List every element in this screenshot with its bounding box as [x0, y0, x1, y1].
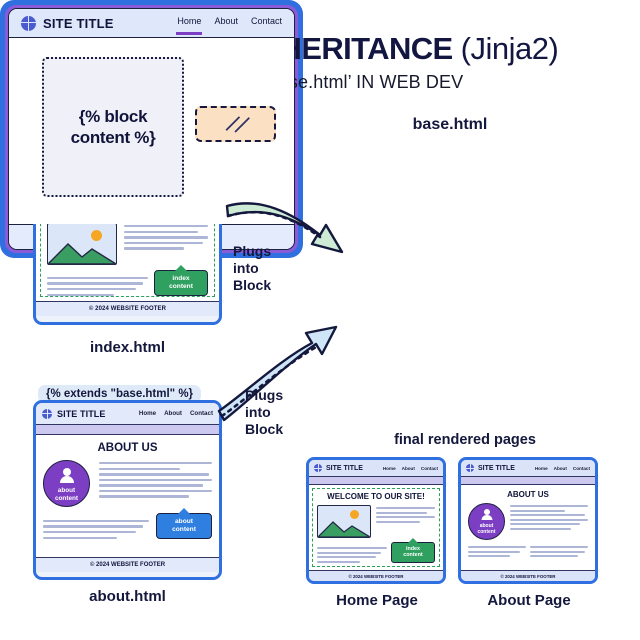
home-thumb-body: WELCOME TO OUR SITE!: [309, 485, 443, 570]
mountain-shape: [318, 519, 370, 537]
home-thumb-site-title: SITE TITLE: [326, 465, 363, 472]
final-pages-label: final rendered pages: [300, 432, 630, 448]
aboutpg-thumb-lines-2: [468, 544, 526, 557]
index-footer: © 2024 WEBSITE FOOTER: [36, 301, 219, 316]
index-file-label: index.html: [33, 339, 222, 356]
arrow-label-index: Plugs into Block: [233, 243, 271, 294]
aboutpg-thumb-nav-about[interactable]: About: [554, 466, 567, 471]
globe-icon: [21, 16, 36, 31]
index-text-lines-2: [47, 275, 148, 296]
home-thumb-nav-home[interactable]: Home: [383, 466, 396, 471]
aboutpg-thumb-site-title: SITE TITLE: [478, 465, 515, 472]
home-thumb-heading: WELCOME TO OUR SITE!: [317, 492, 435, 501]
index-lower-row: index content: [47, 270, 208, 296]
arrow-label-about: Plugs into Block: [245, 387, 283, 438]
page-title-accent: (Jinja2): [461, 31, 559, 66]
globe-icon: [466, 464, 474, 472]
about-file-label: about.html: [33, 588, 222, 605]
about-hero-row: about content: [43, 460, 212, 507]
sun-shape: [350, 510, 359, 519]
about-site-title: SITE TITLE: [57, 409, 106, 419]
aboutpg-thumb-lines: [510, 503, 588, 540]
block-content-placeholder: {% block content %}: [42, 57, 184, 197]
placeholder-slash-icon: [195, 106, 276, 142]
home-thumb-band: [309, 477, 443, 485]
about-footer: © 2024 WEBSITE FOOTER: [36, 557, 219, 572]
avatar-shoulders: [60, 476, 74, 483]
base-nav-contact[interactable]: Contact: [251, 16, 282, 31]
aboutpg-thumb-lower-row: [468, 544, 588, 557]
globe-icon: [314, 464, 322, 472]
base-nav-about[interactable]: About: [214, 16, 238, 31]
about-avatar-line1: about: [58, 487, 75, 494]
aboutpg-avatar-line2: content: [477, 530, 495, 536]
image-placeholder-icon: [317, 505, 371, 538]
about-body: ABOUT US about content: [36, 435, 219, 557]
index-hero-row: [47, 223, 208, 265]
home-thumb-lower-row: index content: [317, 542, 435, 563]
about-nav-home[interactable]: Home: [139, 410, 156, 417]
about-text-lines: [99, 460, 212, 507]
home-thumb-header: SITE TITLE Home About Contact: [309, 460, 443, 477]
base-inner-ring: SITE TITLE Home About Contact {% block c…: [5, 5, 298, 253]
aboutpg-thumb-body: ABOUT US about content: [461, 485, 595, 570]
index-badge-line1: index: [172, 275, 189, 282]
about-heading: ABOUT US: [43, 442, 212, 454]
avatar-head: [63, 468, 71, 476]
home-thumb-content-block: WELCOME TO OUR SITE!: [312, 488, 440, 567]
base-html-panel: SITE TITLE Home About Contact {% block c…: [0, 0, 303, 258]
block-line-1: {% block: [79, 107, 147, 126]
home-thumb-footer: © 2024 WEBSITE FOOTER: [309, 570, 443, 582]
aboutpg-thumb-nav-contact[interactable]: Contact: [573, 466, 590, 471]
aboutpg-thumb-nav-home[interactable]: Home: [535, 466, 548, 471]
base-file-label: base.html: [300, 116, 600, 134]
about-nav: Home About Contact: [139, 410, 213, 417]
base-nav-home[interactable]: Home: [177, 16, 201, 31]
aboutpg-thumb-lines-3: [530, 544, 588, 557]
base-browser-window: SITE TITLE Home About Contact {% block c…: [8, 8, 295, 250]
mountain-shape: [48, 240, 116, 264]
about-page-caption: About Page: [455, 592, 603, 609]
about-badge-line1: about: [175, 518, 193, 525]
aboutpg-thumb-hero-row: about content: [468, 503, 588, 540]
base-site-title: SITE TITLE: [43, 16, 114, 31]
base-browser-header: SITE TITLE Home About Contact: [9, 9, 294, 38]
about-browser-header: SITE TITLE Home About Contact: [36, 403, 219, 425]
home-thumb-nav: Home About Contact: [383, 466, 438, 471]
home-thumb-nav-about[interactable]: About: [402, 466, 415, 471]
about-content-badge: about content: [156, 513, 212, 539]
home-thumb-badge-line1: index: [406, 546, 420, 552]
about-nav-about[interactable]: About: [164, 410, 182, 417]
home-thumb-badge: index content: [391, 542, 435, 563]
aboutpg-thumb-footer: © 2024 WEBSITE FOOTER: [461, 570, 595, 582]
globe-icon: [42, 409, 52, 419]
aboutpg-thumb-content: ABOUT US about content: [464, 488, 592, 567]
home-thumb-nav-contact[interactable]: Contact: [421, 466, 438, 471]
aboutpg-thumb-heading: ABOUT US: [468, 490, 588, 499]
home-thumb-lines-2: [317, 545, 387, 563]
person-icon: about content: [43, 460, 90, 507]
block-line-2: content %}: [71, 128, 156, 147]
index-text-lines: [124, 223, 208, 265]
about-text-lines-2: [43, 518, 149, 539]
home-thumb-badge-line2: content: [403, 552, 422, 558]
index-badge-line2: content: [169, 283, 193, 290]
aboutpg-thumb-band: [461, 477, 595, 485]
base-nav: Home About Contact: [177, 16, 282, 31]
index-content-badge: index content: [154, 270, 208, 296]
home-thumb-hero-row: [317, 505, 435, 538]
person-icon: about content: [468, 503, 505, 540]
diagram-canvas: TEMPLATE INHERITANCE (Jinja2) REUSING ‘b…: [0, 0, 640, 640]
about-accent-band: [36, 425, 219, 435]
avatar-shoulders: [481, 515, 492, 520]
about-lower-row: about content: [43, 513, 212, 539]
slash-marks: [197, 108, 274, 140]
about-nav-contact[interactable]: Contact: [190, 410, 213, 417]
home-thumb-lines: [376, 505, 435, 538]
about-page-thumbnail: SITE TITLE Home About Contact ABOUT US a…: [458, 457, 598, 584]
about-badge-line2: content: [172, 526, 196, 533]
about-avatar-line2: content: [55, 495, 78, 502]
home-page-caption: Home Page: [303, 592, 451, 609]
home-page-thumbnail: SITE TITLE Home About Contact WELCOME TO…: [306, 457, 446, 584]
aboutpg-thumb-nav: Home About Contact: [535, 466, 590, 471]
aboutpg-thumb-header: SITE TITLE Home About Contact: [461, 460, 595, 477]
image-placeholder-icon: [47, 223, 117, 265]
base-content-area: {% block content %}: [9, 38, 294, 224]
about-html-mockup: SITE TITLE Home About Contact ABOUT US a…: [33, 400, 222, 580]
